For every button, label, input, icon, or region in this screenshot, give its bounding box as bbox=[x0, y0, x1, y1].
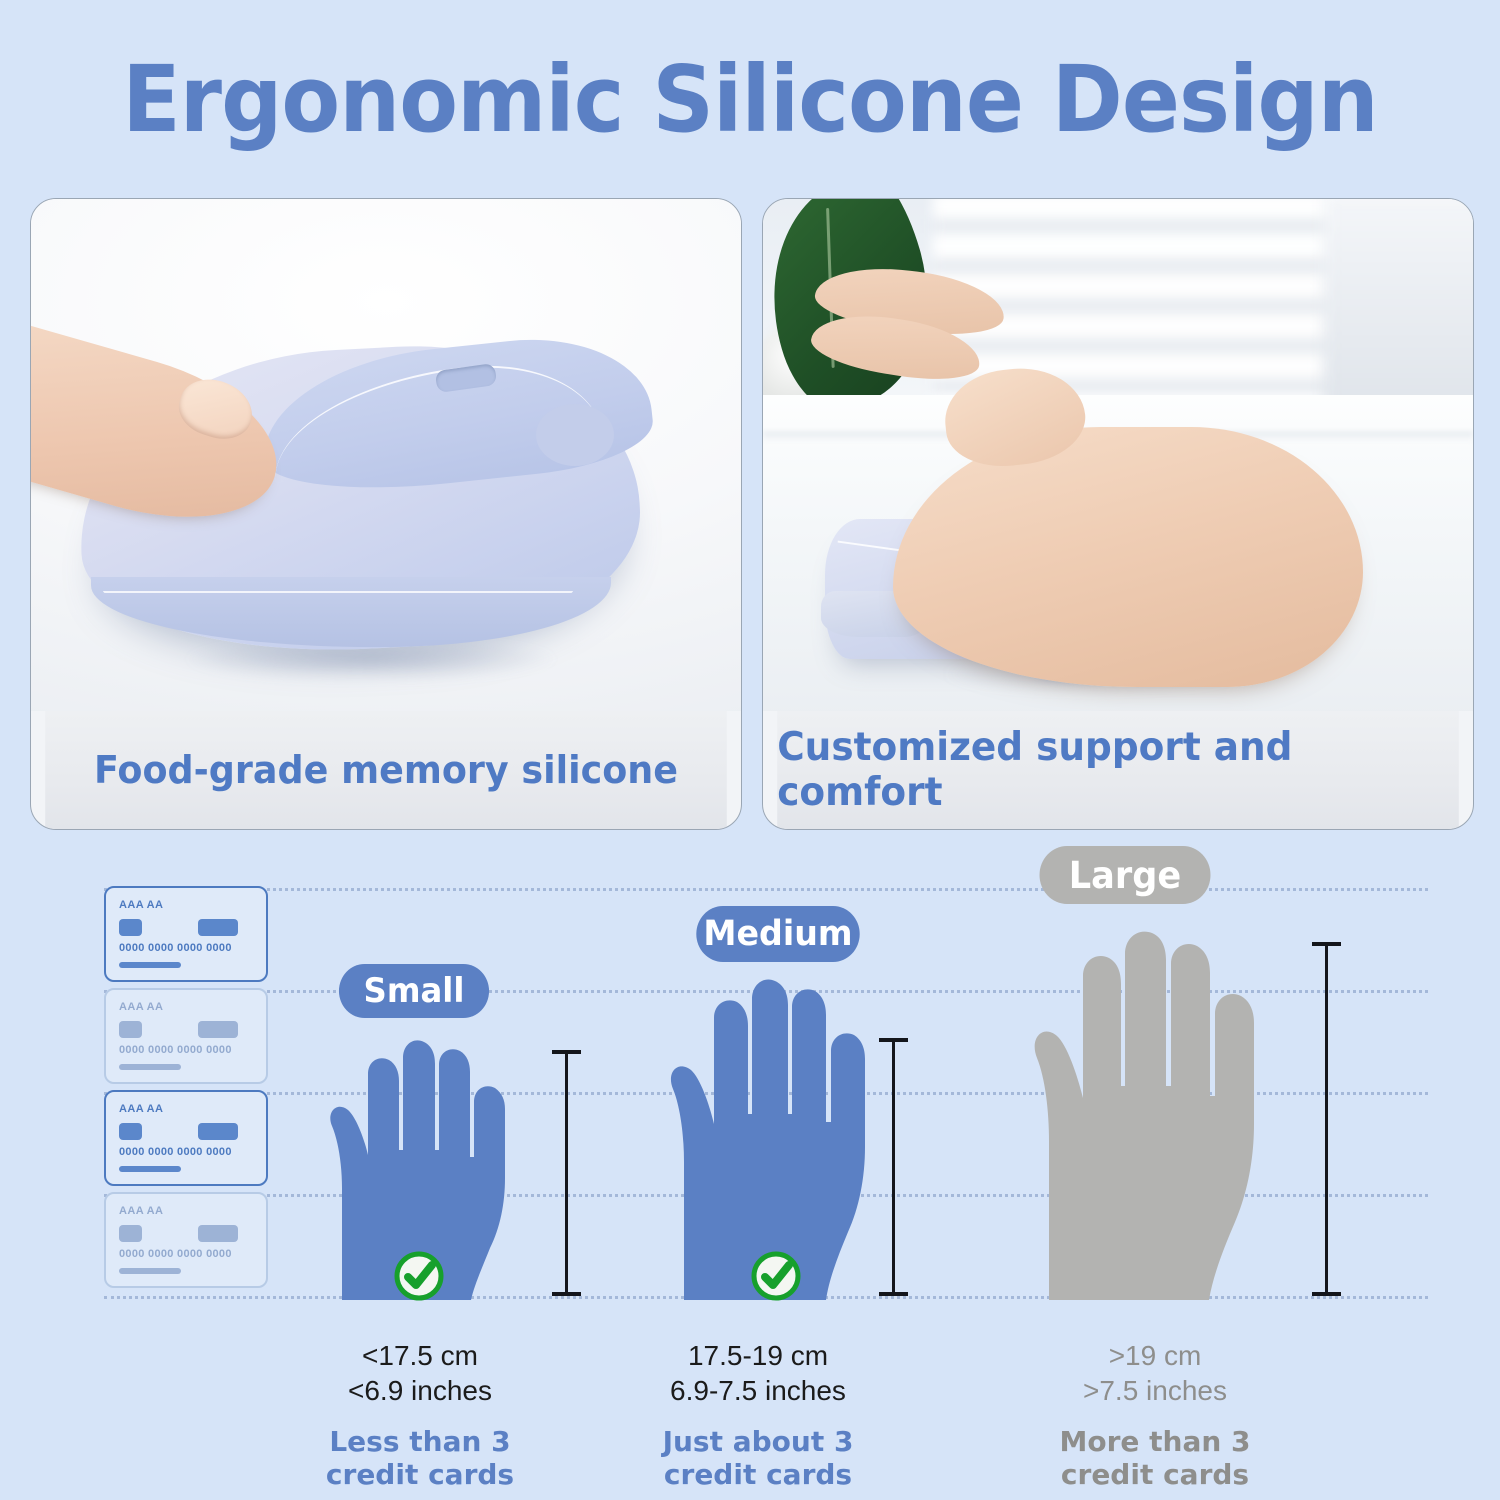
panel-caption: Food-grade memory silicone bbox=[45, 711, 727, 829]
measure-cm: 17.5-19 cm bbox=[608, 1338, 908, 1373]
measure-bar-large bbox=[1325, 942, 1328, 1296]
credit-card: AAA AA 0000 0000 0000 0000 bbox=[104, 1192, 268, 1288]
card-stripe bbox=[119, 1166, 181, 1172]
card-logo-block bbox=[198, 1123, 238, 1140]
card-chip-icon bbox=[119, 919, 142, 936]
green-check-icon bbox=[750, 1250, 802, 1302]
measurement-medium: 17.5-19 cm 6.9-7.5 inches Just about 3 c… bbox=[608, 1338, 908, 1491]
card-stripe bbox=[119, 962, 181, 968]
measurement-large: >19 cm >7.5 inches More than 3 credit ca… bbox=[1005, 1338, 1305, 1491]
measurement-small: <17.5 cm <6.9 inches Less than 3 credit … bbox=[270, 1338, 570, 1491]
hand-size-chart: AAA AA 0000 0000 0000 0000 AAA AA 0000 0… bbox=[0, 828, 1500, 1500]
measure-inches: 6.9-7.5 inches bbox=[608, 1373, 908, 1408]
size-label-small: Small bbox=[339, 964, 489, 1018]
infographic-root: Ergonomic Silicone Design Food-grade mem… bbox=[0, 0, 1500, 1500]
card-number: 0000 0000 0000 0000 bbox=[119, 1146, 232, 1158]
green-check-icon bbox=[393, 1250, 445, 1302]
page-title: Ergonomic Silicone Design bbox=[53, 52, 1448, 148]
card-number: 0000 0000 0000 0000 bbox=[119, 1044, 232, 1056]
measure-cm: <17.5 cm bbox=[270, 1338, 570, 1373]
comfort-photo bbox=[763, 199, 1473, 711]
mouse-side-button bbox=[536, 404, 614, 466]
card-logo-block bbox=[198, 919, 238, 936]
card-chip-icon bbox=[119, 1225, 142, 1242]
card-logo-block bbox=[198, 1225, 238, 1242]
measure-note: Just about 3 credit cards bbox=[608, 1425, 908, 1491]
size-label-medium: Medium bbox=[696, 906, 859, 962]
card-bank-label: AAA AA bbox=[119, 1103, 163, 1115]
card-bank-label: AAA AA bbox=[119, 899, 163, 911]
hand-silhouette-large bbox=[985, 928, 1315, 1300]
card-number: 0000 0000 0000 0000 bbox=[119, 1248, 232, 1260]
card-number: 0000 0000 0000 0000 bbox=[119, 942, 232, 954]
measure-inches: <6.9 inches bbox=[270, 1373, 570, 1408]
measure-bar-small bbox=[565, 1050, 568, 1296]
card-chip-icon bbox=[119, 1021, 142, 1038]
panel-silicone: Food-grade memory silicone bbox=[30, 198, 742, 830]
credit-card: AAA AA 0000 0000 0000 0000 bbox=[104, 1090, 268, 1186]
measure-cm: >19 cm bbox=[1005, 1338, 1305, 1373]
credit-card: AAA AA 0000 0000 0000 0000 bbox=[104, 988, 268, 1084]
panel-comfort: Customized support and comfort bbox=[762, 198, 1474, 830]
card-logo-block bbox=[198, 1021, 238, 1038]
silicone-photo bbox=[31, 199, 741, 711]
panel-caption: Customized support and comfort bbox=[777, 711, 1459, 829]
card-bank-label: AAA AA bbox=[119, 1205, 163, 1217]
size-label-large: Large bbox=[1040, 846, 1211, 904]
card-stripe bbox=[119, 1268, 181, 1274]
guide-line bbox=[104, 888, 1428, 891]
measure-note: Less than 3 credit cards bbox=[270, 1425, 570, 1491]
measure-inches: >7.5 inches bbox=[1005, 1373, 1305, 1408]
measure-note: More than 3 credit cards bbox=[1005, 1425, 1305, 1491]
card-bank-label: AAA AA bbox=[119, 1001, 163, 1013]
resting-hand bbox=[893, 427, 1363, 687]
card-stripe bbox=[119, 1064, 181, 1070]
card-chip-icon bbox=[119, 1123, 142, 1140]
measure-bar-medium bbox=[892, 1038, 895, 1296]
window-blinds-panel bbox=[1323, 199, 1473, 413]
credit-card: AAA AA 0000 0000 0000 0000 bbox=[104, 886, 268, 982]
